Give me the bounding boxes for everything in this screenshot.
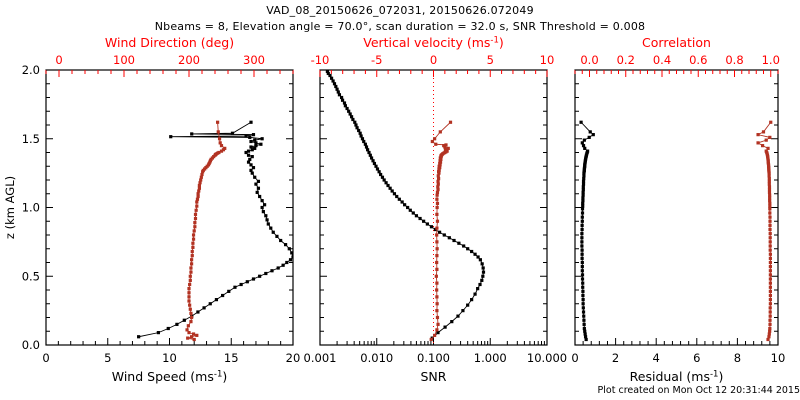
panel-3-bottom-ticklabel: 8 xyxy=(734,351,741,365)
panel-2-bottom-ticklabel: 10.000 xyxy=(527,351,567,365)
plot-timestamp: Plot created on Mon Oct 12 20:31:44 2015 xyxy=(0,385,800,396)
panel-3-top-ticklabel: 0.2 xyxy=(617,53,635,67)
panel-2-frame xyxy=(320,70,547,345)
panel-1-top-axis-label: Wind Direction (deg) xyxy=(105,35,234,50)
panel-2-bottom-ticklabel: 1.000 xyxy=(474,351,507,365)
series-correlation xyxy=(756,121,772,341)
panel-2-top-ticks xyxy=(320,70,547,77)
panel-1-top-ticks xyxy=(46,70,293,77)
panel-1-top-ticklabel: 0 xyxy=(55,53,62,67)
panel-2-bottom-ticklabel: 0.010 xyxy=(360,351,393,365)
panel-2-top-axis-label: Vertical velocity (ms-1) xyxy=(363,35,504,50)
plot-canvas: 0510152001002003000.00.51.01.52.0z (km A… xyxy=(0,0,800,400)
panel-1-bottom-ticklabel: 0 xyxy=(42,351,49,365)
panel-1-top-ticklabel: 100 xyxy=(113,53,135,67)
series-wind-direction xyxy=(185,121,226,341)
plot-figure: VAD_08_20150626_072031, 20150626.072049 … xyxy=(0,0,800,400)
y-axis-ticklabel: 1.0 xyxy=(22,201,40,215)
panel-3-bottom-ticklabel: 0 xyxy=(571,351,578,365)
panel-2-top-ticklabel: 10 xyxy=(540,53,555,67)
panel-3-top-ticklabel: 0.8 xyxy=(725,53,743,67)
panel-1-top-ticklabel: 300 xyxy=(243,53,265,67)
y-axis-ticklabel: 2.0 xyxy=(22,63,40,77)
series-residual xyxy=(579,121,594,341)
panel-2-top-ticklabel: 5 xyxy=(487,53,494,67)
panel-3-bottom-ticklabel: 2 xyxy=(612,351,619,365)
panel-1-y-ticks xyxy=(46,70,293,345)
y-axis-ticklabel: 0.0 xyxy=(22,338,40,352)
panel-1-frame xyxy=(46,70,293,345)
panel-1-bottom-ticklabel: 15 xyxy=(224,351,239,365)
panel-1-bottom-ticklabel: 20 xyxy=(286,351,301,365)
panel-3-bottom-ticklabel: 6 xyxy=(693,351,700,365)
panel-3-top-ticklabel: 0.0 xyxy=(580,53,598,67)
panel-3-bottom-ticklabel: 10 xyxy=(771,351,786,365)
panel-1-top-ticklabel: 200 xyxy=(178,53,200,67)
panel-3-top-ticklabel: 0.4 xyxy=(653,53,671,67)
panel-3-top-ticklabel: 1.0 xyxy=(762,53,780,67)
panel-3-bottom-axis-label: Residual (ms-1) xyxy=(630,369,724,384)
panel-1-bottom-ticklabel: 5 xyxy=(104,351,111,365)
panel-3-bottom-ticklabel: 4 xyxy=(653,351,660,365)
panel-3-top-ticks xyxy=(575,70,778,77)
panel-1-bottom-ticklabel: 10 xyxy=(162,351,177,365)
y-axis-label: z (km AGL) xyxy=(3,176,17,239)
panel-1-bottom-axis-label: Wind Speed (ms-1) xyxy=(112,369,228,384)
panel-2-bottom-axis-label: SNR xyxy=(421,369,447,384)
series-snr xyxy=(325,0,485,340)
y-axis-ticklabel: 1.5 xyxy=(22,132,40,146)
panel-3-top-ticklabel: 0.6 xyxy=(689,53,707,67)
panel-2-bottom-ticklabel: 0.100 xyxy=(417,351,450,365)
panel-3-y-ticks xyxy=(575,70,778,345)
y-axis-ticklabel: 0.5 xyxy=(22,269,40,283)
panel-3-bottom-ticks xyxy=(575,338,778,345)
panel-3-frame xyxy=(575,70,778,345)
panel-3-top-axis-label: Correlation xyxy=(642,35,711,50)
panel-2-top-ticklabel: 0 xyxy=(430,53,437,67)
panel-2-top-ticklabel: -5 xyxy=(371,53,382,67)
panel-2-bottom-ticklabel: 0.001 xyxy=(304,351,337,365)
panel-2-y-ticks xyxy=(320,70,547,345)
panel-2-top-ticklabel: -10 xyxy=(311,53,330,67)
panel-1-bottom-ticks xyxy=(46,338,293,345)
